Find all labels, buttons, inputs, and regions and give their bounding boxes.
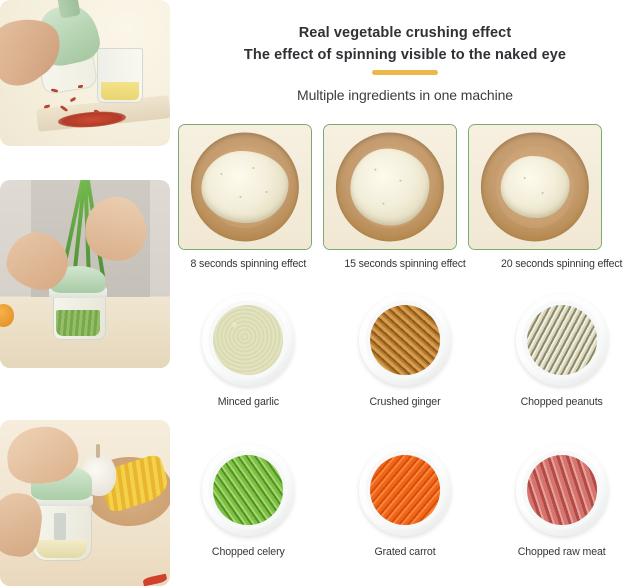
ingredient-label-chopped-celery: Chopped celery bbox=[212, 546, 285, 558]
bowl-chopped-peanuts bbox=[516, 294, 608, 386]
ingredient-item-chopped-celery: Chopped celery bbox=[170, 444, 327, 558]
ingredient-label-minced-garlic: Minced garlic bbox=[218, 396, 279, 408]
ingredient-label-chopped-raw-meat: Chopped raw meat bbox=[518, 546, 606, 558]
spinning-effect-frames bbox=[178, 124, 602, 250]
ingredient-item-crushed-ginger: Crushed ginger bbox=[327, 294, 484, 408]
spinning-effect-label-2: 15 seconds spinning effect bbox=[327, 258, 484, 270]
spinning-effect-labels: 8 seconds spinning effect 15 seconds spi… bbox=[170, 258, 640, 270]
bowl-chopped-raw-meat bbox=[516, 444, 608, 536]
headline-line-1: Real vegetable crushing effect bbox=[170, 22, 640, 44]
product-infographic: Real vegetable crushing effect The effec… bbox=[0, 0, 640, 586]
subheadline: Multiple ingredients in one machine bbox=[170, 87, 640, 103]
spinning-effect-label-3: 20 seconds spinning effect bbox=[483, 258, 640, 270]
gold-divider bbox=[372, 70, 438, 75]
content-column: Real vegetable crushing effect The effec… bbox=[170, 0, 640, 586]
ingredient-row-1: Minced garlic Crushed ginger Chopped pea… bbox=[170, 294, 640, 408]
headline-block: Real vegetable crushing effect The effec… bbox=[170, 22, 640, 66]
ingredient-item-chopped-raw-meat: Chopped raw meat bbox=[483, 444, 640, 558]
bowl-crushed-ginger bbox=[359, 294, 451, 386]
ingredient-row-2: Chopped celery Grated carrot Chopped raw… bbox=[170, 444, 640, 558]
ingredient-label-grated-carrot: Grated carrot bbox=[374, 546, 435, 558]
spinning-effect-label-1: 8 seconds spinning effect bbox=[170, 258, 327, 270]
photo-chopper-pouring-chili bbox=[0, 0, 170, 146]
ingredient-item-chopped-peanuts: Chopped peanuts bbox=[483, 294, 640, 408]
ingredient-item-minced-garlic: Minced garlic bbox=[170, 294, 327, 408]
bowl-grated-carrot bbox=[359, 444, 451, 536]
photo-chopper-chopping-scallions bbox=[0, 180, 170, 368]
spinning-effect-frame-3 bbox=[468, 124, 602, 250]
ingredient-label-chopped-peanuts: Chopped peanuts bbox=[521, 396, 603, 408]
spinning-effect-frame-1 bbox=[178, 124, 312, 250]
bowl-chopped-celery bbox=[202, 444, 294, 536]
ingredient-label-crushed-ginger: Crushed ginger bbox=[369, 396, 440, 408]
bowl-minced-garlic bbox=[202, 294, 294, 386]
ingredient-item-grated-carrot: Grated carrot bbox=[327, 444, 484, 558]
headline-line-2: The effect of spinning visible to the na… bbox=[170, 44, 640, 66]
photo-chopper-with-garlic-and-corn bbox=[0, 420, 170, 586]
spinning-effect-frame-2 bbox=[323, 124, 457, 250]
